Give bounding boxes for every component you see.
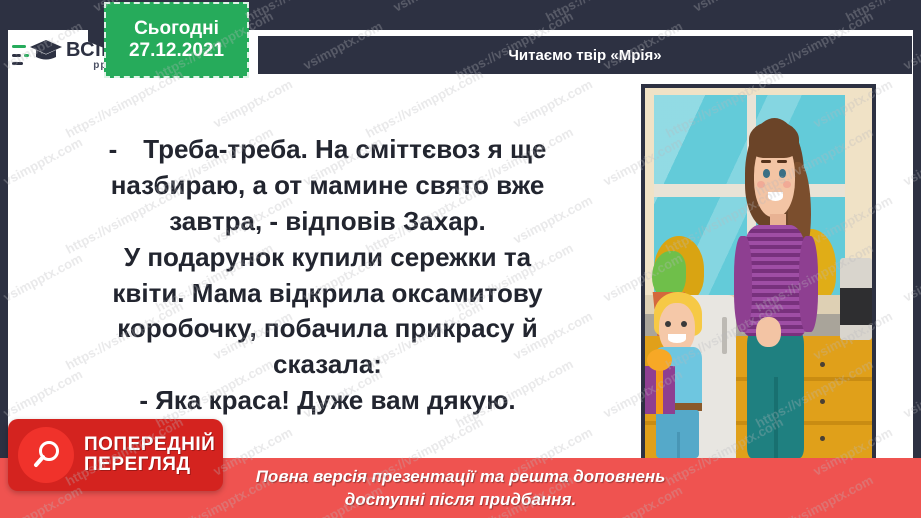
- body-line-1: -Треба-треба. На сміттєвоз я ще: [20, 132, 635, 168]
- slide-body-text: -Треба-треба. На сміттєвоз я ще назбираю…: [20, 132, 635, 419]
- body-line-3: завтра, - відповів Захар.: [20, 204, 635, 240]
- body-line-4: У подарунок купили сережки та: [20, 240, 635, 276]
- magnifier-icon: [18, 427, 74, 483]
- body-line-7: сказала:: [20, 347, 635, 383]
- body-line-8: - Яка краса! Дуже вам дякую.: [20, 383, 635, 419]
- graduation-cap-icon: [12, 35, 64, 75]
- banner-line-2: доступні після придбання.: [345, 489, 576, 510]
- body-line-5: квіти. Мама відкрила оксамитову: [20, 276, 635, 312]
- dialog-dash: -: [109, 132, 118, 168]
- preview-watermark-badge: ПОПЕРЕДНІЙ ПЕРЕГЛЯД: [8, 419, 223, 491]
- today-date: 27.12.2021: [129, 40, 224, 62]
- presentation-slide: ВСІМ pptx Сьогодні 27.12.2021 Читаємо тв…: [0, 0, 921, 518]
- mother-and-boy-with-gift-illustration: [641, 84, 876, 462]
- today-date-badge: Сьогодні 27.12.2021: [104, 2, 249, 78]
- body-line-6: коробочку, побачила прикрасу й: [20, 311, 635, 347]
- banner-line-1: Повна версія презентації та решта доповн…: [256, 466, 666, 487]
- today-label: Сьогодні: [134, 18, 219, 40]
- body-line-1-text: Треба-треба. На сміттєвоз я ще: [143, 134, 546, 164]
- slide-header-bar: Читаємо твір «Мрія»: [258, 36, 912, 74]
- slide-title: Читаємо твір «Мрія»: [508, 47, 661, 64]
- preview-label-line1: ПОПЕРЕДНІЙ: [84, 435, 215, 455]
- body-line-2: назбираю, а от мамине свято вже: [20, 168, 635, 204]
- preview-label-line2: ПЕРЕГЛЯД: [84, 455, 215, 475]
